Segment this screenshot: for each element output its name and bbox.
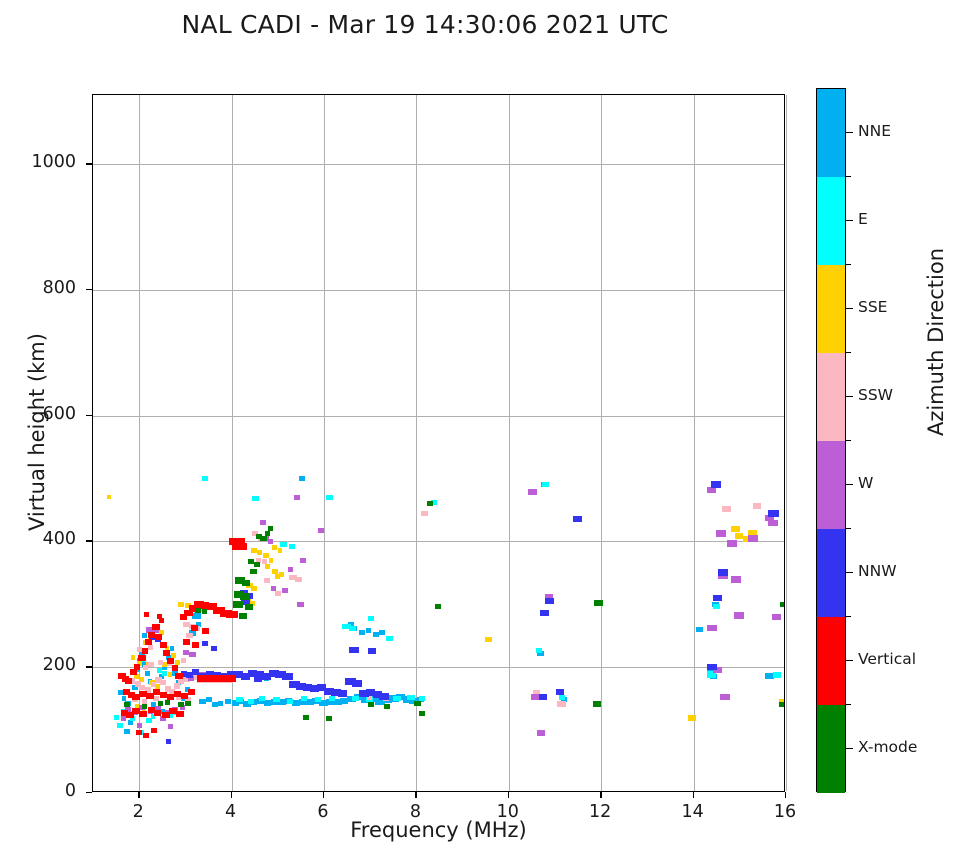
data-point [688, 715, 696, 721]
data-point [172, 665, 178, 671]
page-title: NAL CADI - Mar 19 14:30:06 2021 UTC [0, 10, 850, 39]
data-point [186, 633, 192, 638]
data-point [236, 697, 242, 702]
data-point [159, 618, 165, 623]
colorbar-segment-nnw[interactable] [817, 529, 845, 617]
data-point [178, 602, 184, 607]
data-point [265, 564, 271, 569]
data-point [735, 533, 743, 539]
data-point [178, 702, 184, 707]
data-point [539, 694, 547, 700]
plot-area [92, 94, 785, 792]
data-point [191, 625, 198, 631]
data-point [148, 645, 154, 650]
colorbar-tick [846, 308, 853, 309]
data-point [245, 604, 252, 610]
data-point [731, 526, 739, 532]
data-point [696, 627, 703, 632]
colorbar-segment-e[interactable] [817, 177, 845, 265]
data-point [251, 548, 257, 553]
data-point [252, 496, 258, 501]
data-point [142, 633, 148, 638]
data-point [269, 558, 274, 563]
data-point [537, 730, 545, 736]
x-axis-title: Frequency (MHz) [92, 818, 785, 842]
data-point [753, 503, 761, 509]
x-axis-tick [785, 792, 786, 798]
data-point [202, 609, 208, 614]
colorbar-segment-w[interactable] [817, 441, 845, 529]
data-point [373, 632, 379, 637]
colorbar-label-ssw: SSW [858, 386, 893, 404]
y-axis-tick-label: 0 [6, 781, 76, 801]
data-point [136, 730, 142, 735]
data-point [768, 510, 778, 517]
data-point [594, 600, 602, 606]
colorbar-tick [846, 572, 853, 573]
colorbar-tick [846, 484, 853, 485]
data-point [192, 642, 198, 648]
data-point [271, 586, 277, 591]
y-axis-tick-label: 800 [6, 278, 76, 298]
data-point [326, 495, 332, 500]
data-point [183, 639, 189, 645]
data-point [131, 655, 136, 660]
data-point [183, 650, 189, 655]
data-point [125, 678, 131, 684]
data-point [386, 636, 392, 641]
data-point [175, 660, 180, 665]
colorbar-segment-sse[interactable] [817, 265, 845, 353]
data-point [734, 612, 744, 619]
data-point [366, 628, 372, 633]
data-point [536, 648, 542, 653]
data-point [419, 711, 425, 716]
y-axis-tick [86, 792, 92, 793]
data-point [780, 602, 784, 607]
data-point [301, 696, 307, 701]
data-point [239, 613, 247, 619]
data-point [379, 630, 385, 635]
data-point [268, 539, 274, 544]
data-point [226, 611, 238, 618]
data-point [352, 680, 362, 687]
y-axis-tick-label: 200 [6, 655, 76, 675]
data-point [278, 548, 283, 553]
data-point [145, 639, 152, 645]
data-point [189, 652, 195, 657]
data-point [713, 604, 720, 609]
data-point [160, 642, 167, 648]
data-point [282, 588, 288, 593]
data-point [152, 624, 159, 630]
data-point [299, 476, 305, 481]
data-point [779, 702, 784, 707]
data-point [124, 702, 130, 707]
data-point [315, 697, 321, 702]
data-point [225, 699, 231, 704]
data-point [557, 701, 565, 707]
data-point [768, 520, 777, 526]
data-point [107, 495, 111, 499]
data-point [199, 699, 205, 704]
data-point [282, 673, 292, 680]
data-point [202, 476, 208, 481]
colorbar-label-nne: NNE [858, 122, 891, 140]
data-point [257, 550, 262, 555]
data-point [211, 646, 217, 651]
data-point [158, 660, 164, 665]
data-point [134, 664, 140, 670]
colorbar-label-w: W [858, 474, 873, 492]
colorbar-boundary-tick [846, 176, 851, 177]
data-point [435, 604, 441, 609]
data-point [707, 625, 716, 631]
data-point [349, 626, 355, 631]
data-point [158, 701, 164, 706]
x-axis-tick [508, 792, 509, 798]
data-point [250, 569, 256, 574]
colorbar-label-x-mode: X-mode [858, 738, 917, 756]
data-point [143, 733, 149, 738]
data-point [329, 696, 335, 701]
data-point [242, 580, 250, 586]
data-point [218, 701, 224, 706]
data-point [713, 595, 722, 601]
data-point [163, 650, 169, 656]
colorbar-segment-nne[interactable] [817, 89, 845, 177]
data-point [485, 637, 492, 642]
data-point [718, 569, 728, 576]
data-point [162, 671, 167, 676]
data-point [145, 671, 151, 676]
data-point [114, 715, 120, 720]
data-point [151, 682, 157, 687]
data-point [297, 602, 303, 607]
data-point [166, 739, 171, 744]
data-point [748, 535, 758, 542]
data-point [192, 613, 200, 619]
data-point [542, 482, 548, 487]
data-point [318, 528, 324, 533]
data-point [727, 540, 737, 547]
colorbar-segment-vertical[interactable] [817, 617, 845, 705]
data-point [573, 516, 582, 522]
data-point [148, 662, 154, 667]
ionogram-figure: NAL CADI - Mar 19 14:30:06 2021 UTC 2468… [0, 0, 958, 857]
data-point [540, 610, 549, 616]
data-point [275, 591, 281, 596]
data-point [556, 689, 564, 695]
colorbar-tick [846, 220, 853, 221]
data-point [272, 545, 277, 550]
data-point [176, 711, 183, 717]
data-point [289, 544, 295, 549]
data-point [265, 531, 271, 536]
data-point [287, 699, 293, 704]
data-point [326, 716, 332, 721]
data-point [264, 578, 270, 583]
data-point [427, 501, 433, 506]
colorbar-boundary-tick [846, 352, 851, 353]
data-point [772, 614, 781, 620]
data-point [707, 664, 716, 670]
data-point [168, 672, 173, 677]
data-point [142, 648, 148, 654]
colorbar-boundary-tick [846, 528, 851, 529]
colorbar-title: Azimuth Direction [924, 212, 948, 472]
colorbar[interactable] [816, 88, 846, 792]
data-point [349, 647, 358, 653]
data-point [273, 697, 279, 702]
data-point [188, 689, 195, 695]
data-point [124, 729, 130, 734]
data-point [240, 593, 249, 600]
data-point [117, 723, 123, 728]
data-point [254, 676, 262, 682]
data-point [142, 704, 148, 709]
data-point [722, 506, 730, 512]
data-point [260, 536, 266, 541]
colorbar-tick [846, 396, 853, 397]
data-point [773, 672, 781, 678]
colorbar-tick [846, 132, 853, 133]
data-point [393, 696, 400, 701]
colorbar-boundary-tick [846, 440, 851, 441]
data-point [195, 608, 201, 613]
data-point [222, 675, 236, 682]
data-point [407, 695, 414, 700]
x-axis-tick [231, 792, 232, 798]
data-point [232, 543, 248, 550]
data-point [593, 701, 601, 707]
data-point [368, 616, 374, 621]
data-point [148, 632, 154, 638]
data-point [280, 542, 286, 547]
data-point [233, 601, 243, 608]
data-point [185, 701, 191, 706]
data-point [421, 511, 428, 516]
y-axis-tick [86, 540, 92, 541]
data-point [139, 711, 146, 717]
data-point [720, 694, 729, 700]
colorbar-boundary-tick [846, 616, 851, 617]
colorbar-boundary-tick [846, 704, 851, 705]
data-point [262, 559, 268, 564]
data-point [303, 715, 309, 720]
data-point [384, 704, 390, 709]
colorbar-label-vertical: Vertical [858, 650, 916, 668]
data-point [144, 612, 150, 617]
data-point [359, 630, 365, 635]
gridline-vertical [786, 95, 787, 791]
data-point [711, 481, 721, 488]
data-point [338, 690, 347, 697]
data-point [716, 530, 726, 537]
x-axis-tick [415, 792, 416, 798]
data-point [154, 710, 161, 716]
data-point [379, 693, 388, 700]
data-point [251, 586, 257, 591]
x-axis-tick [693, 792, 694, 798]
colorbar-boundary-tick [846, 264, 851, 265]
data-point [167, 658, 174, 664]
y-axis-tick-label: 1000 [6, 152, 76, 172]
data-point [138, 655, 145, 661]
colorbar-label-e: E [858, 210, 868, 228]
data-point [279, 572, 285, 577]
data-point [368, 702, 374, 707]
data-points-layer [93, 95, 784, 791]
data-point [259, 696, 265, 701]
data-point [175, 673, 182, 679]
x-axis-tick [323, 792, 324, 798]
colorbar-label-sse: SSE [858, 298, 887, 316]
data-point [168, 724, 174, 729]
y-axis-tick [86, 666, 92, 667]
data-point [165, 700, 171, 705]
data-point [260, 520, 266, 525]
colorbar-segment-ssw[interactable] [817, 353, 845, 441]
data-point [151, 728, 157, 733]
colorbar-tick [846, 660, 853, 661]
data-point [181, 658, 187, 663]
data-point [202, 628, 209, 634]
data-point [170, 646, 175, 651]
data-point [528, 489, 536, 495]
data-point [202, 641, 208, 646]
data-point [559, 695, 565, 700]
data-point [137, 723, 143, 728]
x-axis-tick [138, 792, 139, 798]
x-axis-tick [600, 792, 601, 798]
colorbar-tick [846, 748, 853, 749]
y-axis-tick [86, 163, 92, 164]
data-point [160, 680, 166, 685]
data-point [248, 699, 254, 704]
colorbar-segment-x-mode[interactable] [817, 705, 845, 793]
y-axis-title: Virtual height (km) [25, 302, 49, 562]
data-point [294, 495, 300, 500]
y-axis-tick [86, 289, 92, 290]
data-point [368, 648, 376, 654]
data-point [254, 562, 260, 567]
data-point [731, 576, 741, 583]
data-point [545, 598, 554, 604]
data-point [288, 567, 294, 572]
y-axis-tick [86, 415, 92, 416]
data-point [155, 634, 161, 640]
colorbar-label-nnw: NNW [858, 562, 897, 580]
data-point [414, 701, 420, 706]
data-point [174, 683, 180, 689]
data-point [295, 577, 301, 582]
data-point [300, 558, 306, 563]
data-point [206, 697, 212, 702]
